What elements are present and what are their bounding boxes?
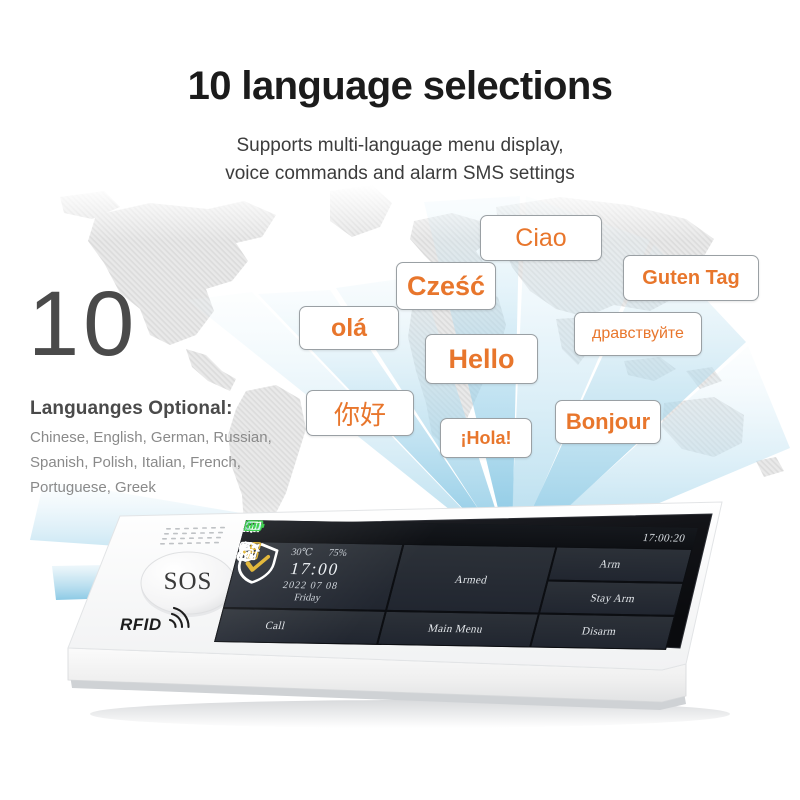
promo-page: 10 language selections Supports multi-la… xyxy=(0,0,800,800)
screen-date: 2022 07 08 xyxy=(281,580,339,592)
language-list-line-2: Spanish, Polish, Italian, French, xyxy=(30,450,312,475)
weather-row: 30℃ 75% xyxy=(290,547,348,559)
unlocked-padlock-icon xyxy=(536,631,582,632)
greeting-bubble-text: дравствуйте xyxy=(592,325,684,343)
greeting-bubble: дравствуйте xyxy=(574,312,702,356)
shield-check-icon xyxy=(553,563,599,564)
greeting-bubble-text: Bonjour xyxy=(566,409,650,435)
greeting-bubble: Cześć xyxy=(396,262,496,310)
humidity-readout: 75% xyxy=(327,548,348,559)
arm-button[interactable]: Arm xyxy=(548,547,692,583)
greeting-bubble-text: ¡Hola! xyxy=(461,428,512,449)
house-icon xyxy=(545,597,591,598)
greeting-bubble: Ciao xyxy=(480,215,602,261)
page-subtitle: Supports multi-language menu display, vo… xyxy=(0,132,800,188)
device-screen: 17:00:20 xyxy=(214,520,698,650)
greeting-bubble: olá xyxy=(299,306,399,350)
screen-time: 17:00 xyxy=(288,559,342,580)
greeting-bubble-text: olá xyxy=(331,314,367,343)
disarm-button-label: Disarm xyxy=(580,626,617,639)
screen-tiles: 30℃ 75% 17:00 2022 07 08 xyxy=(214,541,692,650)
language-list-line-1: Chinese, English, German, Russian, xyxy=(30,425,312,450)
temperature-value: 30℃ xyxy=(290,547,314,558)
language-list: Chinese, English, German, Russian, Spani… xyxy=(30,425,312,500)
greeting-bubble-text: Cześć xyxy=(407,271,485,302)
language-count: 10 xyxy=(28,278,138,370)
rfid-label: RFID xyxy=(120,615,162,635)
disarm-button[interactable]: Disarm xyxy=(530,614,674,650)
status-clock: 17:00:20 xyxy=(641,531,686,544)
armed-status-label: Armed xyxy=(453,574,488,587)
temperature-readout: 30℃ xyxy=(290,547,314,558)
call-button-label: Call xyxy=(264,620,287,632)
alarm-panel-device: SOS RFID xyxy=(60,498,750,738)
greeting-bubble-text: Ciao xyxy=(515,224,566,253)
main-menu-button-label: Main Menu xyxy=(427,623,484,636)
phone-handset-icon xyxy=(220,625,266,626)
battery-icon xyxy=(243,520,266,531)
greeting-bubble: Guten Tag xyxy=(623,255,759,301)
stay-arm-button-label: Stay Arm xyxy=(589,592,636,605)
stay-arm-button[interactable]: Stay Arm xyxy=(539,580,683,616)
armed-status-tile[interactable]: Armed xyxy=(386,544,557,613)
greeting-bubble-text: Hello xyxy=(448,344,514,375)
subtitle-line-1: Supports multi-language menu display, xyxy=(0,132,800,160)
grid-apps-icon xyxy=(382,628,428,629)
language-list-line-3: Portuguese, Greek xyxy=(30,475,312,500)
greeting-bubble-text: Guten Tag xyxy=(642,267,739,290)
languages-optional-label: Languanges Optional: xyxy=(30,398,233,420)
humidity-value: 75% xyxy=(327,548,348,559)
greeting-bubble: ¡Hola! xyxy=(440,418,532,458)
greeting-bubble: 你好 xyxy=(306,390,414,436)
main-menu-button[interactable]: Main Menu xyxy=(377,611,540,648)
subtitle-line-2: voice commands and alarm SMS settings xyxy=(0,160,800,188)
screen-weekday: Friday xyxy=(293,593,322,604)
call-button[interactable]: Call xyxy=(214,608,386,645)
sos-button-label[interactable]: SOS xyxy=(141,568,235,596)
greeting-bubble: Bonjour xyxy=(555,400,661,444)
arm-button-label: Arm xyxy=(598,558,622,570)
greeting-bubble: Hello xyxy=(425,334,538,384)
greeting-bubble-text: 你好 xyxy=(334,395,386,432)
page-title: 10 language selections xyxy=(0,64,800,109)
